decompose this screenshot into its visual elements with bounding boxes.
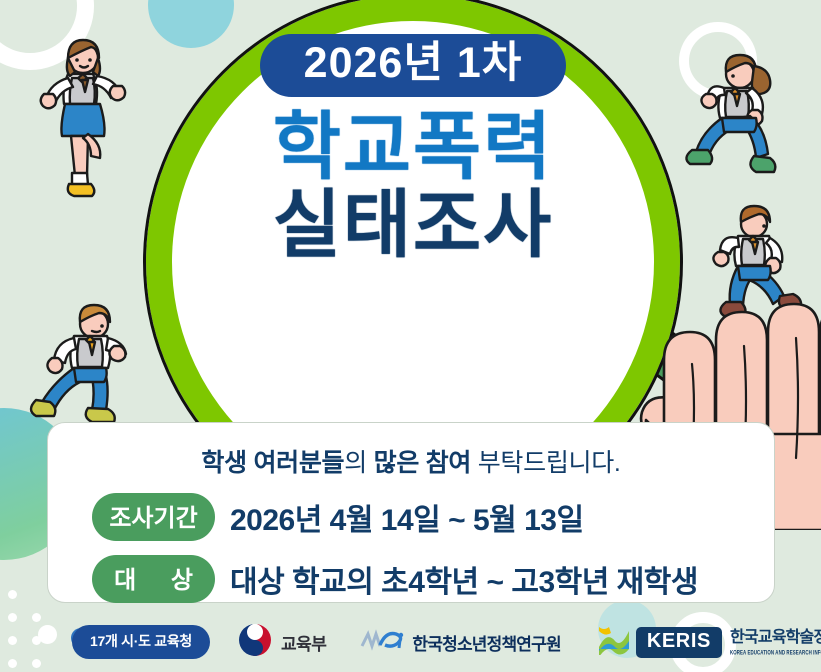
info-row-target: 대 상 대상 학교의 초4학년 ~ 고3학년 재학생 <box>48 555 774 603</box>
nypi-label: 한국청소년정책연구원 <box>412 630 560 655</box>
keris-label-en: KOREA EDUCATION AND RESEARCH INFORMATION… <box>730 649 821 656</box>
keris-text-block: 한국교육학술정보원 KOREA EDUCATION AND RESEARCH I… <box>730 630 821 654</box>
appeal-bold-2: 많은 참여 <box>374 449 471 477</box>
value-target: 대상 학교의 초4학년 ~ 고3학년 재학생 <box>230 557 698 601</box>
edu-offices-badge: 17개 시·도 교육청 <box>72 625 210 659</box>
student-girl-cheering-icon <box>14 28 132 205</box>
keris-mark-label: KERIS <box>636 627 722 658</box>
title-line-1: 학교폭력 <box>273 109 553 184</box>
keris-label-kr: 한국교육학술정보원 <box>730 630 821 647</box>
info-card: 학생 여러분들의 많은 참여 부탁드립니다. 조사기간 2026년 4월 14일… <box>47 422 775 603</box>
student-running-right-icon <box>678 30 794 195</box>
poster-canvas: 2026년 1차 학교폭력 실태조사 학생 여러분들의 많은 참여 <box>0 0 821 672</box>
title-line-2: 실태조사 <box>273 187 553 262</box>
appeal-bold-1: 학생 여러분들 <box>201 449 344 477</box>
appeal-text: 학생 여러분들의 많은 참여 부탁드립니다. <box>48 443 774 479</box>
moe-label: 교육부 <box>281 630 326 655</box>
keris-mark-icon <box>597 625 631 660</box>
student-walking-icon <box>18 296 142 441</box>
value-survey-period: 2026년 4월 14일 ~ 5월 13일 <box>230 495 584 539</box>
info-row-period: 조사기간 2026년 4월 14일 ~ 5월 13일 <box>48 493 774 541</box>
nypi-mark-icon <box>360 628 406 657</box>
year-badge: 2026년 1차 <box>260 34 567 97</box>
logo-keris: KERIS 한국교육학술정보원 KOREA EDUCATION AND RESE… <box>597 625 821 660</box>
footer-logos: 17개 시·도 교육청 교육부 한국청소년정책연구원 <box>0 612 821 672</box>
taegeuk-icon <box>238 623 272 662</box>
logo-nypi: 한국청소년정책연구원 <box>360 628 560 657</box>
appeal-mid: 의 <box>344 449 373 477</box>
badge-survey-period: 조사기간 <box>92 493 215 541</box>
logo-moe: 교육부 <box>238 623 326 662</box>
badge-target: 대 상 <box>92 555 215 603</box>
appeal-tail: 부탁드립니다. <box>471 449 621 477</box>
